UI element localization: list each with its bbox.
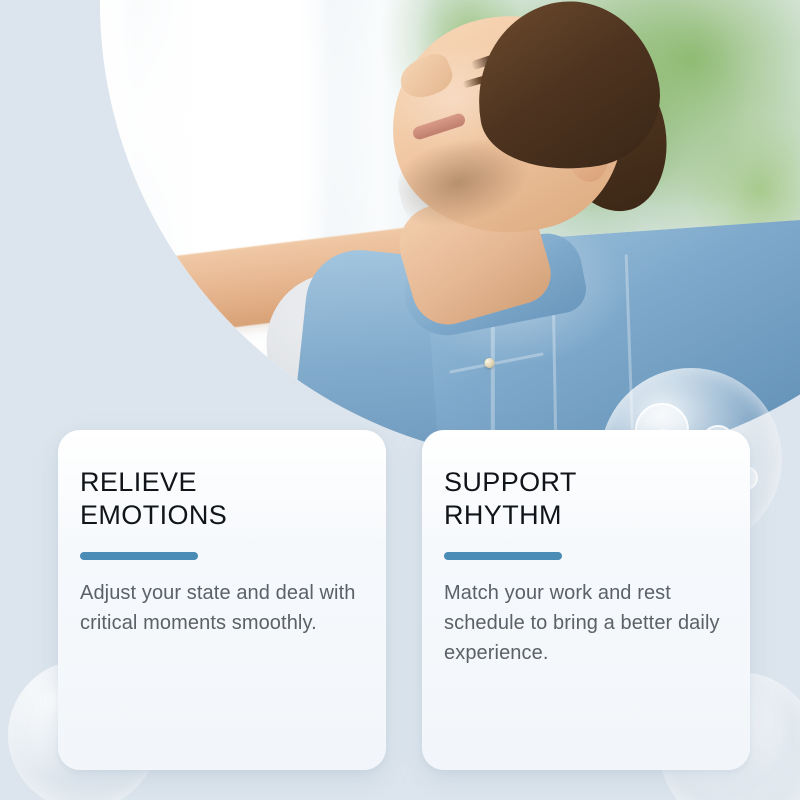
- card-body-text: Match your work and rest schedule to bri…: [444, 578, 720, 668]
- card-title: RELIEVE EMOTIONS: [80, 466, 356, 532]
- feature-card-list: RELIEVE EMOTIONS Adjust your state and d…: [0, 0, 800, 800]
- feature-card-support-rhythm[interactable]: SUPPORT RHYTHM Match your work and rest …: [422, 430, 750, 770]
- poster-canvas: RELIEVE EMOTIONS Adjust your state and d…: [0, 0, 800, 800]
- feature-card-relieve-emotions[interactable]: RELIEVE EMOTIONS Adjust your state and d…: [58, 430, 386, 770]
- card-accent-rule: [444, 552, 562, 560]
- card-accent-rule: [80, 552, 198, 560]
- card-body-text: Adjust your state and deal with critical…: [80, 578, 356, 638]
- card-title: SUPPORT RHYTHM: [444, 466, 720, 532]
